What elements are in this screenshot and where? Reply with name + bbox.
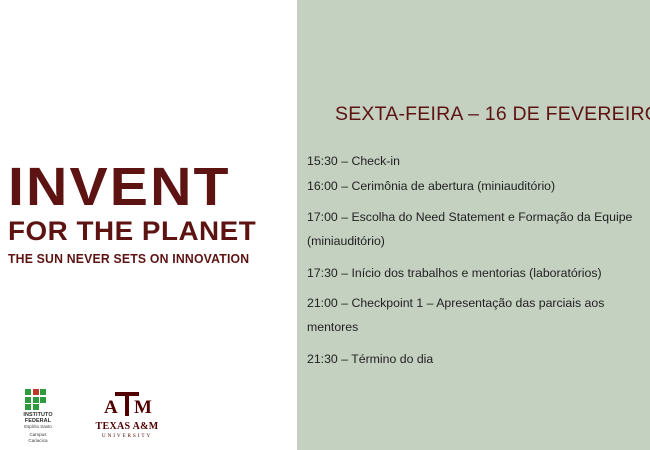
tamu-subtitle: UNIVERSITY (96, 433, 159, 439)
tamu-t-stem (125, 392, 129, 416)
instituto-federal-mark-icon (25, 389, 51, 410)
ifes-campus-line2: Cariacica (23, 438, 52, 444)
schedule-heading: SEXTA-FEIRA – 16 DE FEVEREIRO (335, 103, 650, 126)
logo-tagline: THE SUN NEVER SETS ON INNOVATION (8, 252, 214, 266)
texas-am-logo: A M TEXAS A&M UNIVERSITY (88, 389, 166, 439)
instituto-federal-logo: INSTITUTO FEDERAL Espírito Santo Campus … (12, 389, 64, 444)
institution-logos: INSTITUTO FEDERAL Espírito Santo Campus … (12, 389, 166, 444)
texas-am-wordmark: TEXAS A&M UNIVERSITY (96, 421, 159, 439)
slide-canvas: INVENT FOR THE PLANET THE SUN NEVER SETS… (0, 0, 650, 450)
schedule-item: 16:00 – Cerimônia de abertura (miniaudit… (307, 180, 642, 192)
tamu-letter-a: A (104, 398, 118, 417)
ifes-state: Espírito Santo (23, 425, 52, 429)
schedule-list: 15:30 – Check-in 16:00 – Cerimônia de ab… (307, 155, 642, 378)
logo-title-line1: INVENT (8, 163, 231, 213)
texas-am-mark-icon: A M (100, 391, 154, 417)
schedule-item: 15:30 – Check-in (307, 155, 642, 167)
tamu-name: TEXAS A&M (96, 421, 159, 432)
schedule-item: 17:30 – Início dos trabalhos e mentorias… (307, 267, 642, 279)
instituto-federal-wordmark: INSTITUTO FEDERAL Espírito Santo Campus … (23, 413, 52, 444)
schedule-item: 21:00 – Checkpoint 1 – Apresentação das … (307, 292, 642, 340)
logo-title-line2: FOR THE PLANET (8, 218, 224, 245)
tamu-letter-m: M (134, 398, 152, 417)
schedule-item: 21:30 – Término do dia (307, 353, 642, 365)
schedule-item: 17:00 – Escolha do Need Statement e Form… (307, 206, 642, 254)
invent-for-the-planet-logo: INVENT FOR THE PLANET THE SUN NEVER SETS… (8, 163, 218, 266)
